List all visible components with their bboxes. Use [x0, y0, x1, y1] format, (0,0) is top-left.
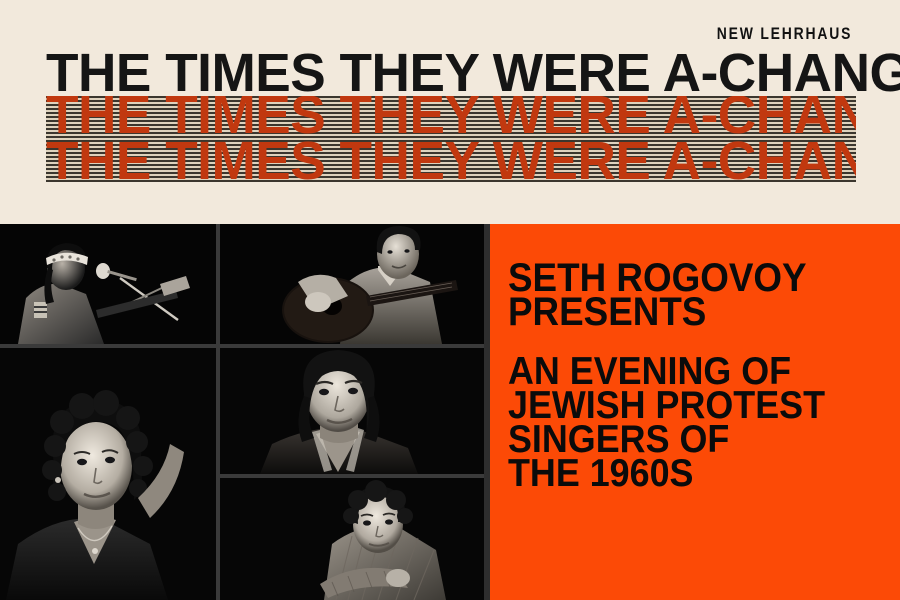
- brand-name: NEW LEHRHAUS: [717, 24, 852, 44]
- photo-grid: [0, 224, 484, 600]
- grid-divider-right-row-two: [220, 474, 484, 478]
- presenter-line-2: PRESENTS: [508, 292, 706, 332]
- headline-echo-two: THE TIMES THEY WERE A-CHANGIN’: [46, 134, 856, 182]
- photo-singer-headband: [0, 224, 216, 344]
- poster-canvas: NEW LEHRHAUS THE TIMES THEY WERE A-CHANG…: [0, 0, 900, 600]
- grid-divider-vertical: [216, 224, 220, 600]
- photo-seated-singer: [220, 478, 484, 600]
- photo-young-guitarist: [220, 224, 484, 344]
- photo-man-dark-hair: [220, 348, 484, 474]
- grid-divider-right-row-one: [220, 344, 484, 348]
- event-info-panel: SETH ROGOVOY PRESENTS AN EVENING OF JEWI…: [490, 224, 900, 600]
- subtitle-line-4: THE 1960S: [508, 454, 693, 493]
- photo-curly-hair-woman: [0, 348, 216, 600]
- striped-texture-band: THE TIMES THEY WERE A-CHANGIN’ THE TIMES…: [46, 96, 856, 182]
- grid-divider-left-row: [0, 344, 216, 348]
- poster-headline: THE TIMES THEY WERE A-CHANGIN’: [46, 46, 900, 100]
